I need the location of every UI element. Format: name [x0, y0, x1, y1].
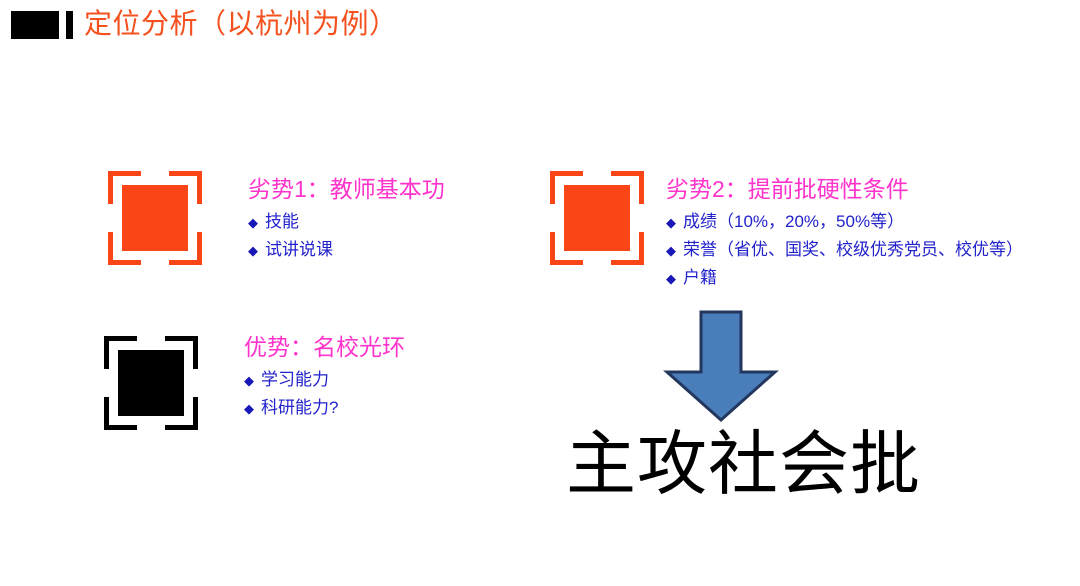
marker-fill — [564, 185, 630, 251]
down-arrow-shape — [667, 312, 775, 420]
marker-fill — [118, 350, 184, 416]
list-item-label: 户籍 — [683, 264, 717, 291]
list-item-label: 试讲说课 — [265, 236, 333, 263]
list-item-label: 成绩（10%，20%，50%等） — [683, 208, 904, 235]
list-item: ◆ 技能 — [248, 208, 445, 236]
orange-square-marker — [108, 171, 202, 265]
down-arrow-icon — [662, 310, 780, 422]
list-item: ◆ 荣誉（省优、国奖、校级优秀党员、校优等） — [666, 236, 1023, 264]
diamond-bullet-icon: ◆ — [248, 237, 258, 264]
conclusion-text: 主攻社会批 — [566, 422, 921, 506]
list-item-label: 学习能力 — [261, 366, 329, 393]
list-item-label: 科研能力? — [261, 394, 338, 421]
title-tick-decoration — [66, 11, 73, 39]
list-item-label: 荣誉（省优、国奖、校级优秀党员、校优等） — [683, 236, 1023, 263]
diamond-bullet-icon: ◆ — [666, 237, 676, 264]
bullet-list: ◆ 成绩（10%，20%，50%等） ◆ 荣誉（省优、国奖、校级优秀党员、校优等… — [666, 208, 1023, 292]
black-square-marker — [104, 336, 198, 430]
list-item: ◆ 学习能力 — [244, 366, 405, 394]
group-heading: 优势：名校光环 — [244, 332, 405, 362]
group-weakness-2: 劣势2：提前批硬性条件 ◆ 成绩（10%，20%，50%等） ◆ 荣誉（省优、国… — [666, 174, 1023, 292]
diamond-bullet-icon: ◆ — [666, 209, 676, 236]
diamond-bullet-icon: ◆ — [248, 209, 258, 236]
list-item: ◆ 成绩（10%，20%，50%等） — [666, 208, 1023, 236]
list-item-label: 技能 — [265, 208, 299, 235]
bullet-list: ◆ 学习能力 ◆ 科研能力? — [244, 366, 405, 422]
bullet-list: ◆ 技能 ◆ 试讲说课 — [248, 208, 445, 264]
marker-fill — [122, 185, 188, 251]
diamond-bullet-icon: ◆ — [244, 395, 254, 422]
slide-title-bar: 定位分析（以杭州为例） — [0, 0, 1080, 52]
group-heading: 劣势1：教师基本功 — [248, 174, 445, 204]
diamond-bullet-icon: ◆ — [666, 265, 676, 292]
list-item: ◆ 户籍 — [666, 264, 1023, 292]
orange-square-marker — [550, 171, 644, 265]
diamond-bullet-icon: ◆ — [244, 367, 254, 394]
list-item: ◆ 科研能力? — [244, 394, 405, 422]
title-block-decoration — [11, 11, 59, 39]
group-weakness-1: 劣势1：教师基本功 ◆ 技能 ◆ 试讲说课 — [248, 174, 445, 264]
page-title: 定位分析（以杭州为例） — [84, 4, 398, 44]
group-advantage: 优势：名校光环 ◆ 学习能力 ◆ 科研能力? — [244, 332, 405, 422]
group-heading: 劣势2：提前批硬性条件 — [666, 174, 1023, 204]
list-item: ◆ 试讲说课 — [248, 236, 445, 264]
